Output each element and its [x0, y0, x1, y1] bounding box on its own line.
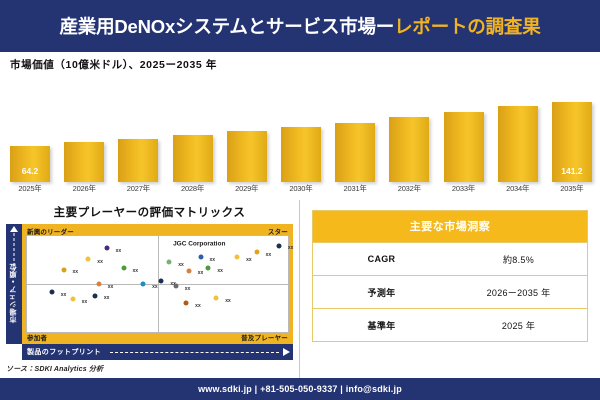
x-axis-tick-label: 2027年 — [118, 183, 158, 194]
matrix-data-point — [61, 267, 66, 272]
bar — [64, 142, 104, 182]
matrix-data-point — [96, 282, 101, 287]
x-axis-tick-label: 2033年 — [444, 183, 484, 194]
insights-table-header: 主要な市場洞察 — [313, 211, 588, 243]
bar: 141.2 — [552, 102, 592, 182]
matrix-data-point — [198, 255, 203, 260]
x-axis-tick-label: 2025年 — [10, 183, 50, 194]
page-title: 産業用DeNOxシステムとサービス市場ーレポートの調査果 — [59, 13, 540, 39]
x-axis-tick-label: 2035年 — [552, 183, 592, 194]
bar-value-label: 64.2 — [10, 166, 50, 176]
matrix-data-point — [167, 259, 172, 264]
bar-column — [498, 94, 538, 182]
matrix-data-point-label: xx — [225, 298, 231, 304]
matrix-data-point — [173, 283, 178, 288]
insights-row-value: 2025 年 — [450, 309, 588, 342]
matrix-data-point-label: xx — [61, 292, 67, 298]
bar-column — [173, 94, 213, 182]
insights-title: 主要な市場洞察 — [313, 211, 588, 243]
x-axis-tick-label: 2026年 — [64, 183, 104, 194]
matrix-data-point-label: xx — [195, 303, 201, 309]
insights-row: CAGR約8.5% — [313, 243, 588, 276]
insights-row-key: 予測年 — [313, 276, 451, 309]
bar — [444, 112, 484, 182]
matrix-data-point-label: xx — [185, 286, 191, 292]
matrix-data-point — [159, 279, 164, 284]
key-insights-table: 主要な市場洞察 CAGR約8.5%予測年2026ー2035 年基準年2025 年 — [312, 210, 588, 342]
matrix-data-point — [121, 265, 126, 270]
lower-section: 主要プレーヤーの評価マトリックス 市場シェア・順位 新興のリーダー スター 参加… — [0, 200, 600, 378]
matrix-data-point — [206, 265, 211, 270]
bar — [498, 106, 538, 182]
matrix-data-point — [92, 293, 97, 298]
bar-column — [444, 94, 484, 182]
arrow-up-icon — [10, 226, 18, 232]
bar-column — [281, 94, 321, 182]
matrix-data-point-label: xx — [210, 257, 216, 263]
x-axis-tick-label: 2031年 — [335, 183, 375, 194]
evaluation-matrix-panel: 主要プレーヤーの評価マトリックス 市場シェア・順位 新興のリーダー スター 参加… — [0, 200, 300, 378]
page-title-accent: レポートの調査果 — [394, 16, 540, 37]
matrix-data-point-label: xx — [73, 269, 79, 275]
report-header: 産業用DeNOxシステムとサービス市場ーレポートの調査果 — [0, 0, 600, 52]
matrix-data-point — [70, 297, 75, 302]
quadrant-label-pervasive-players: 普及プレーヤー — [241, 332, 288, 342]
matrix-plot-area: JGC Corporation xxxxxxxxxxxxxxxxxxxxxxxx… — [26, 235, 289, 333]
bar-column — [389, 94, 429, 182]
bar-column — [64, 94, 104, 182]
matrix-data-point-label: xx — [108, 284, 114, 290]
report-footer: www.sdki.jp | +81-505-050-9337 | info@sd… — [0, 378, 600, 400]
matrix-data-point-label: xx — [217, 268, 223, 274]
x-axis-labels: 2025年2026年2027年2028年2029年2030年2031年2032年… — [10, 183, 592, 194]
insights-row: 予測年2026ー2035 年 — [313, 276, 588, 309]
matrix-body: 新興のリーダー スター 参加者 普及プレーヤー JGC Corporation … — [22, 224, 293, 344]
matrix-data-point — [184, 301, 189, 306]
matrix-y-axis: 市場シェア・順位 — [6, 224, 22, 344]
bar-column — [227, 94, 267, 182]
insights-row-key: 基準年 — [313, 309, 451, 342]
bar — [173, 135, 213, 182]
x-axis-dash-line — [110, 352, 279, 353]
bar — [118, 139, 158, 182]
matrix-title: 主要プレーヤーの評価マトリックス — [6, 204, 293, 220]
matrix-y-axis-label: 市場シェア・順位 — [9, 263, 19, 323]
matrix-data-point — [235, 255, 240, 260]
matrix-data-point — [49, 289, 54, 294]
matrix-data-point-label: xx — [104, 295, 110, 301]
footer-contact-text: www.sdki.jp | +81-505-050-9337 | info@sd… — [198, 384, 402, 394]
bar-column: 141.2 — [552, 94, 592, 182]
x-axis-tick-label: 2034年 — [498, 183, 538, 194]
matrix-data-point-label: xx — [97, 259, 103, 265]
insights-row-key: CAGR — [313, 243, 451, 276]
bar-value-label: 141.2 — [552, 166, 592, 176]
market-value-bar-chart: 市場価値（10億米ドル）、2025ー2035 年 64.2141.2 2025年… — [0, 52, 600, 200]
matrix-wrap: 市場シェア・順位 新興のリーダー スター 参加者 普及プレーヤー JGC Cor… — [6, 224, 293, 344]
matrix-data-point-label: xx — [82, 299, 88, 305]
insights-row: 基準年2025 年 — [313, 309, 588, 342]
matrix-data-point-label: xx — [133, 268, 139, 274]
bar — [335, 123, 375, 182]
bar-column: 64.2 — [10, 94, 50, 182]
bar — [281, 127, 321, 182]
arrow-right-icon — [283, 348, 290, 356]
quadrant-label-participants: 参加者 — [27, 332, 47, 342]
matrix-x-axis: 製品のフットプリント — [22, 344, 293, 360]
chart-subtitle: 市場価値（10億米ドル）、2025ー2035 年 — [10, 59, 592, 72]
x-axis-tick-label: 2032年 — [389, 183, 429, 194]
matrix-data-point — [104, 246, 109, 251]
insights-row-value: 約8.5% — [450, 243, 588, 276]
bars-area: 64.2141.2 — [10, 94, 592, 182]
x-axis-tick-label: 2029年 — [227, 183, 267, 194]
bar-column — [335, 94, 375, 182]
matrix-data-point — [141, 282, 146, 287]
bar-column — [118, 94, 158, 182]
matrix-data-point-label: xx — [152, 284, 158, 290]
matrix-data-point — [276, 243, 281, 248]
matrix-data-point-label: xx — [246, 257, 252, 263]
source-note: ソース：SDKI Analytics 分析 — [6, 364, 293, 374]
matrix-data-point-label: xx — [198, 270, 204, 276]
x-axis-tick-label: 2030年 — [281, 183, 321, 194]
matrix-data-point-label: xx — [116, 248, 122, 254]
matrix-x-axis-label: 製品のフットプリント — [27, 347, 101, 357]
bar: 64.2 — [10, 146, 50, 182]
matrix-data-point — [86, 257, 91, 262]
matrix-data-point — [186, 268, 191, 273]
matrix-data-point-label: xx — [266, 252, 272, 258]
matrix-data-point-label: xx — [178, 262, 184, 268]
matrix-annotation-jgc: JGC Corporation — [173, 240, 225, 247]
key-insights-panel: 主要な市場洞察 CAGR約8.5%予測年2026ー2035 年基準年2025 年 — [300, 200, 600, 378]
bar — [389, 117, 429, 182]
matrix-data-point-label: xx — [288, 245, 294, 251]
x-axis-tick-label: 2028年 — [173, 183, 213, 194]
page-title-main: 産業用DeNOxシステムとサービス市場ー — [59, 16, 394, 37]
insights-row-value: 2026ー2035 年 — [450, 276, 588, 309]
matrix-data-point — [214, 296, 219, 301]
bar — [227, 131, 267, 182]
matrix-data-point — [254, 250, 259, 255]
